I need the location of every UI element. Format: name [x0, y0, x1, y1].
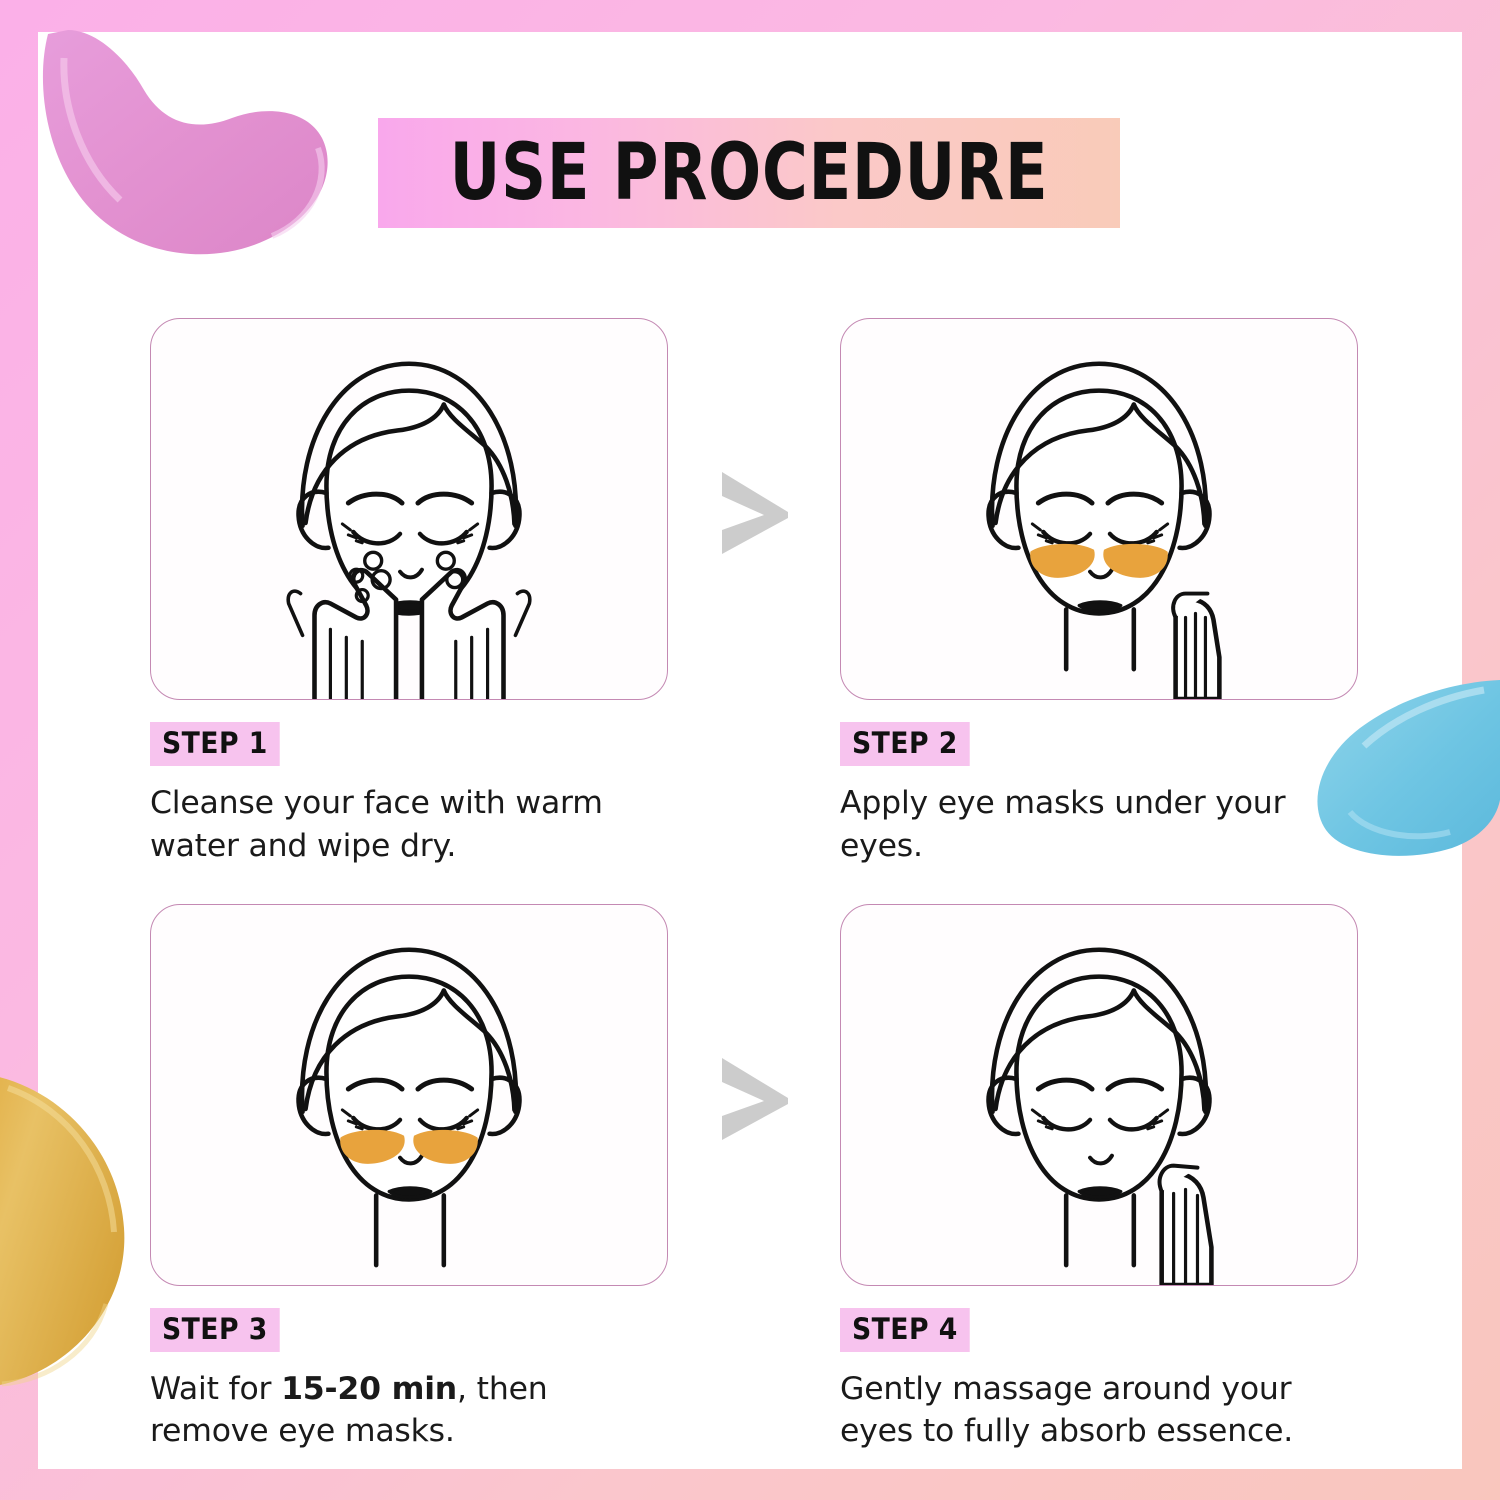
step-1-tag: STEP 1 — [150, 722, 280, 766]
step-row-bottom: STEP 3 Wait for 15-20 min, then remove e… — [150, 904, 1360, 1454]
chevron-right-icon — [712, 1054, 798, 1144]
infographic-canvas: USE PROCEDURE — [0, 0, 1500, 1500]
gold-gel-eye-patch-decoration — [0, 1062, 128, 1392]
arrow-cell-1 — [670, 318, 840, 868]
step-1-text-before: Cleanse your face with warm water and wi… — [150, 785, 603, 864]
pink-gel-eye-patch-decoration — [34, 28, 344, 268]
step-cell-1: STEP 1 Cleanse your face with warm water… — [150, 318, 670, 868]
step-cell-3: STEP 3 Wait for 15-20 min, then remove e… — [150, 904, 670, 1454]
face-waiting-with-eye-masks-illustration — [151, 905, 667, 1285]
face-cleansing-illustration — [151, 319, 667, 699]
face-applying-eye-mask-illustration — [841, 319, 1357, 699]
step-3-text-bold: 15-20 min — [281, 1371, 457, 1407]
step-4-tag: STEP 4 — [840, 1308, 970, 1352]
step-1-description: Cleanse your face with warm water and wi… — [150, 782, 670, 868]
step-2-illustration-card — [840, 318, 1358, 700]
step-2-description: Apply eye masks under your eyes. — [840, 782, 1360, 868]
step-3-illustration-card — [150, 904, 668, 1286]
step-4-illustration-card — [840, 904, 1358, 1286]
step-cell-2: STEP 2 Apply eye masks under your eyes. — [840, 318, 1360, 868]
step-3-description: Wait for 15-20 min, then remove eye mask… — [150, 1368, 670, 1454]
step-2-text-before: Apply eye masks under your eyes. — [840, 785, 1285, 864]
step-3-text-before: Wait for — [150, 1371, 281, 1407]
step-4-description: Gently massage around your eyes to fully… — [840, 1368, 1360, 1454]
blue-gel-eye-patch-decoration — [1304, 672, 1500, 862]
chevron-right-icon — [712, 468, 798, 558]
page-title: USE PROCEDURE — [452, 118, 1046, 228]
step-cell-4: STEP 4 Gently massage around your eyes t… — [840, 904, 1360, 1454]
step-2-tag: STEP 2 — [840, 722, 970, 766]
face-massaging-illustration — [841, 905, 1357, 1285]
step-4-text-before: Gently massage around your eyes to fully… — [840, 1371, 1293, 1450]
step-row-top: STEP 1 Cleanse your face with warm water… — [150, 318, 1360, 868]
step-1-illustration-card — [150, 318, 668, 700]
step-3-tag: STEP 3 — [150, 1308, 280, 1352]
arrow-cell-2 — [670, 904, 840, 1454]
steps-grid: STEP 1 Cleanse your face with warm water… — [150, 318, 1360, 1489]
